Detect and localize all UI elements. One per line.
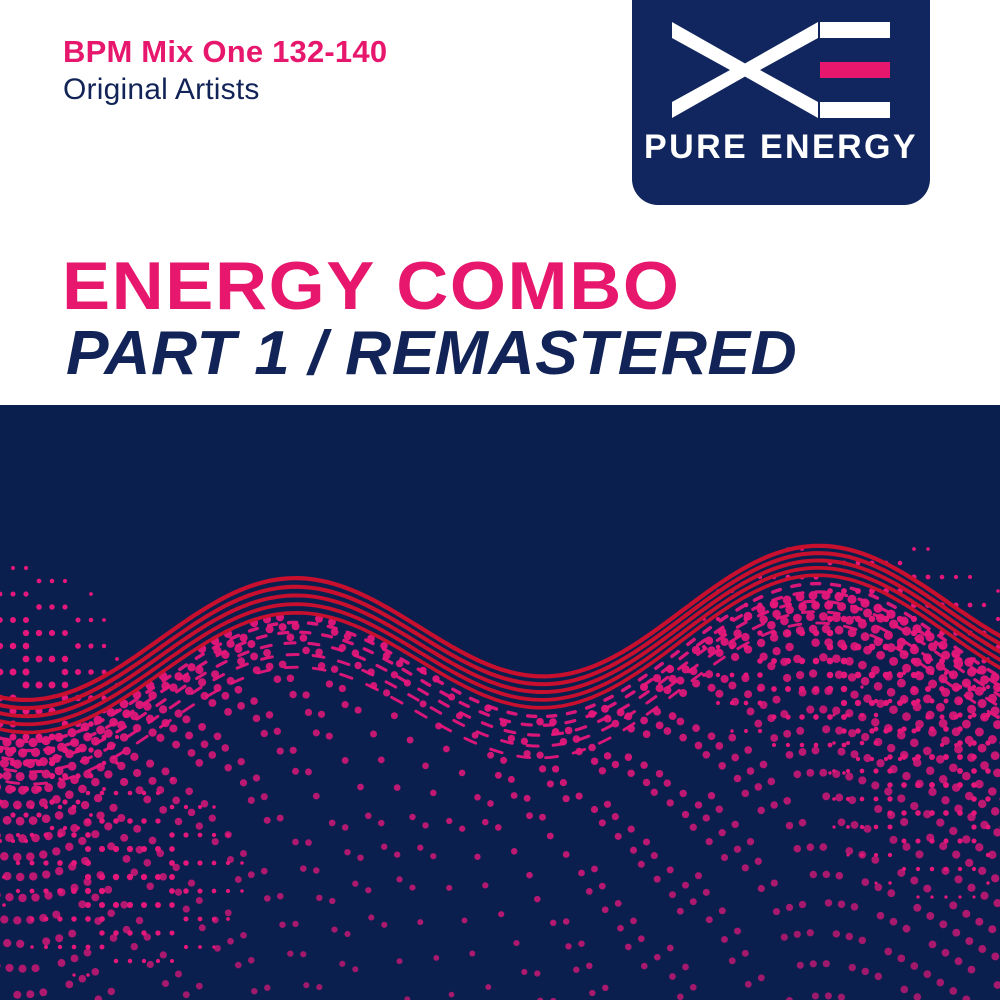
pure-energy-logo-badge: PURE ENERGY [632, 0, 930, 205]
halftone-dot-field [0, 547, 1000, 1000]
album-title: ENERGY COMBO [62, 252, 680, 320]
cover-header-text: BPM Mix One 132-140 Original Artists [63, 34, 623, 110]
album-cover: BPM Mix One 132-140 Original Artists PUR… [0, 0, 1000, 1000]
artwork-panel [0, 405, 1000, 1000]
pure-energy-wordmark: PURE ENERGY [632, 128, 930, 167]
halftone-dot-wave-graphic [0, 405, 1000, 1000]
bpm-label: BPM Mix One 132-140 [63, 34, 623, 70]
pure-energy-x-e-monogram-icon [668, 18, 894, 122]
album-subtitle: PART 1 / REMASTERED [66, 323, 797, 385]
artists-label: Original Artists [63, 70, 623, 111]
